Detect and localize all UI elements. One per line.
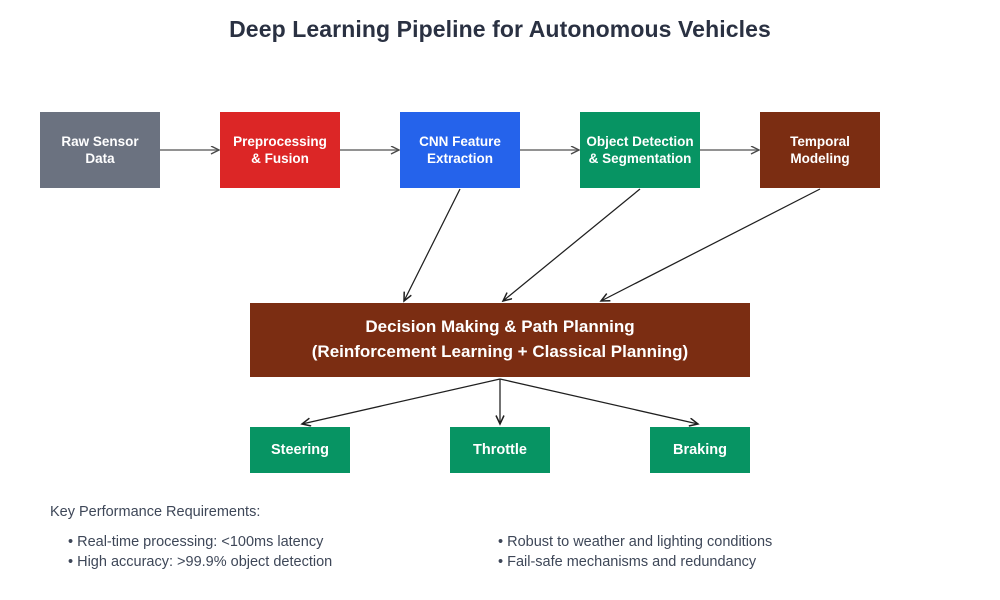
node-raw-sensor-data[interactable]: Raw Sensor Data: [40, 112, 160, 188]
node-object-detection-segmentation-label: Object Detection & Segmentation: [586, 133, 693, 168]
requirement-item: • Fail-safe mechanisms and redundancy: [498, 552, 772, 572]
arrow-cnn-to-decision: [404, 189, 460, 301]
diagram-canvas: Deep Learning Pipeline for Autonomous Ve…: [0, 0, 1000, 600]
node-decision-making-path-planning-label: Decision Making & Path Planning (Reinfor…: [312, 315, 688, 364]
node-braking[interactable]: Braking: [650, 427, 750, 473]
requirements-right-column: • Robust to weather and lighting conditi…: [498, 532, 772, 572]
requirement-item: • Real-time processing: <100ms latency: [68, 532, 332, 552]
requirement-item: • High accuracy: >99.9% object detection: [68, 552, 332, 572]
node-braking-label: Braking: [673, 441, 727, 460]
node-temporal-modeling[interactable]: Temporal Modeling: [760, 112, 880, 188]
requirements-left-column: • Real-time processing: <100ms latency •…: [68, 532, 332, 572]
requirement-item: • Robust to weather and lighting conditi…: [498, 532, 772, 552]
node-raw-sensor-data-label: Raw Sensor Data: [61, 133, 138, 168]
decision-to-output-arrows: [302, 379, 698, 424]
node-throttle-label: Throttle: [473, 441, 527, 460]
node-decision-making-path-planning[interactable]: Decision Making & Path Planning (Reinfor…: [250, 303, 750, 377]
node-cnn-feature-extraction[interactable]: CNN Feature Extraction: [400, 112, 520, 188]
node-preprocessing-fusion-label: Preprocessing & Fusion: [233, 133, 327, 168]
page-title: Deep Learning Pipeline for Autonomous Ve…: [0, 16, 1000, 43]
node-preprocessing-fusion[interactable]: Preprocessing & Fusion: [220, 112, 340, 188]
stage-to-decision-arrows: [404, 189, 820, 301]
node-temporal-modeling-label: Temporal Modeling: [790, 133, 850, 168]
node-steering-label: Steering: [271, 441, 329, 460]
node-object-detection-segmentation[interactable]: Object Detection & Segmentation: [580, 112, 700, 188]
node-cnn-feature-extraction-label: CNN Feature Extraction: [419, 133, 501, 168]
arrow-objdet-to-decision: [503, 189, 640, 301]
arrow-decision-to-steering: [302, 379, 500, 424]
requirements-heading: Key Performance Requirements:: [50, 504, 260, 520]
node-steering[interactable]: Steering: [250, 427, 350, 473]
arrow-decision-to-braking: [500, 379, 698, 424]
node-throttle[interactable]: Throttle: [450, 427, 550, 473]
arrow-temporal-to-decision: [601, 189, 820, 301]
